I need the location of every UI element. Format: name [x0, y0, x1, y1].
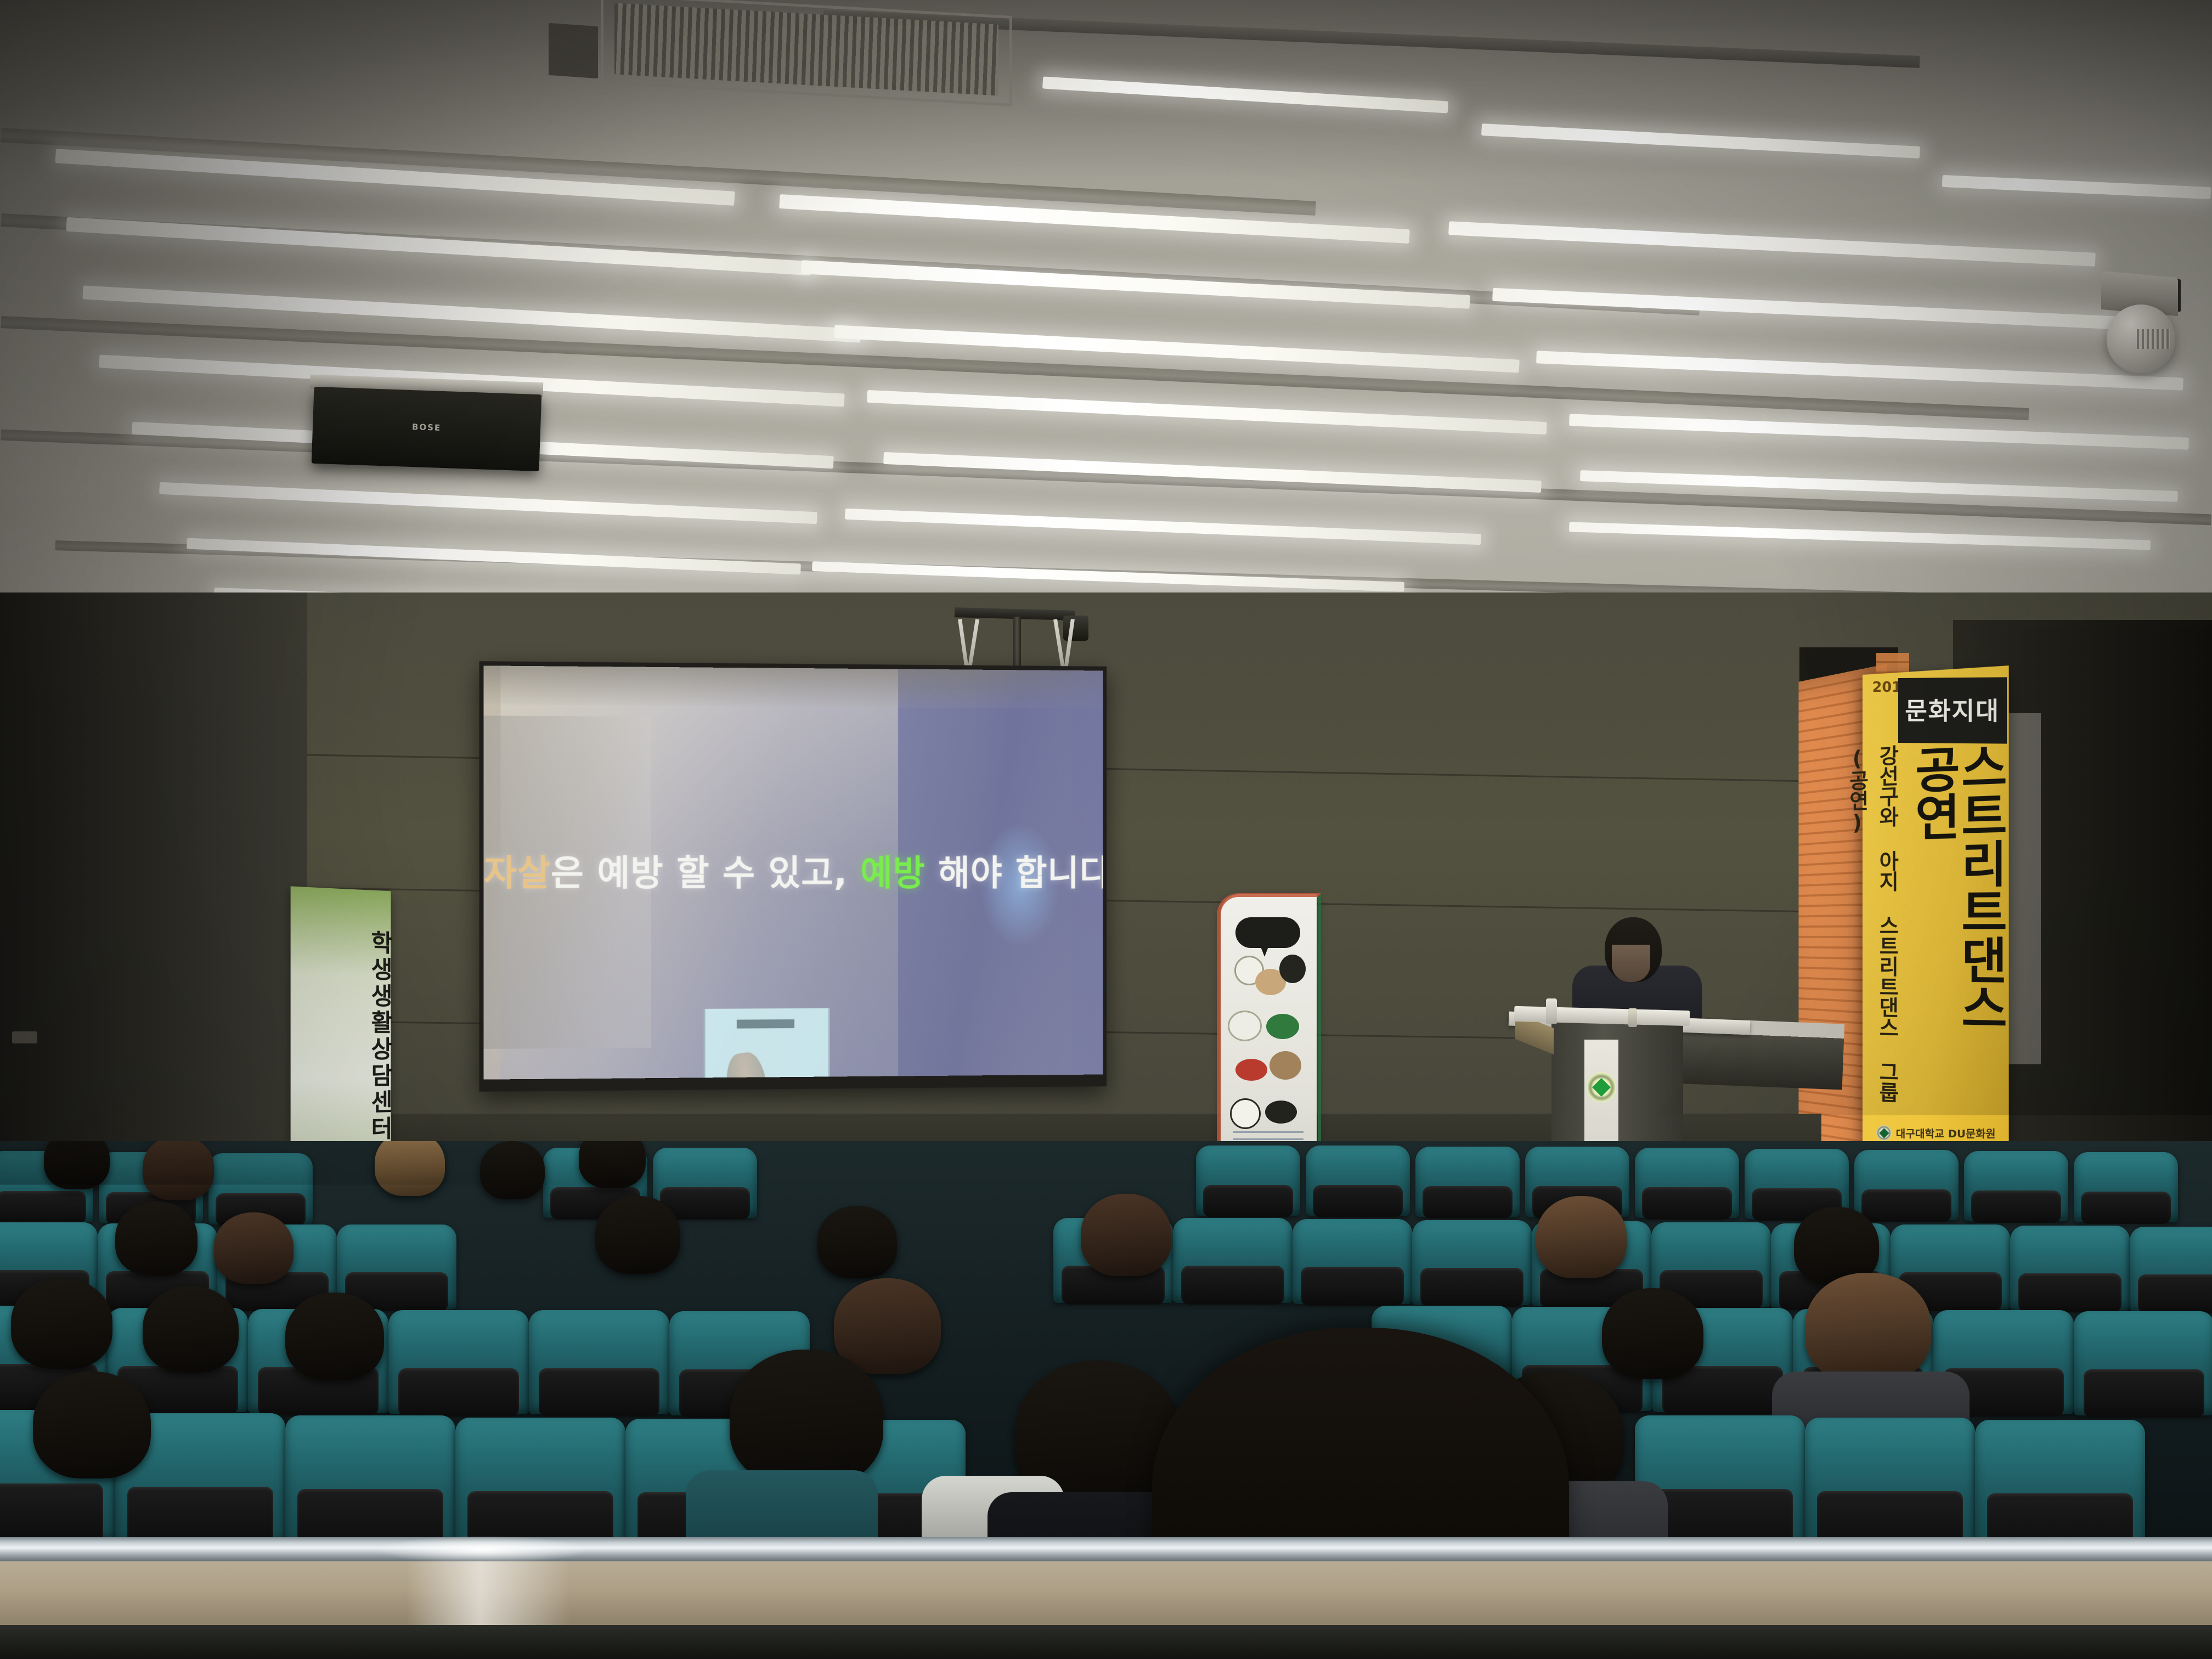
audience-head — [1602, 1288, 1703, 1379]
banner-header-box: 문화지대 — [1898, 677, 2007, 743]
audience-head — [143, 1141, 214, 1200]
audience-head — [143, 1286, 239, 1373]
seat[interactable] — [1293, 1219, 1412, 1304]
audience-head — [285, 1293, 384, 1380]
seat[interactable] — [1635, 1148, 1739, 1218]
projection-screen[interactable]: 자살은 예방 할 수 있고, 예방 해야 합니다. — [484, 665, 1103, 1079]
audience-head — [1081, 1194, 1171, 1276]
left-door-handle[interactable] — [12, 1031, 37, 1043]
seat[interactable] — [2074, 1311, 2212, 1415]
audience-head — [595, 1196, 680, 1274]
speech-bubble-green — [1266, 1014, 1299, 1039]
seat[interactable] — [1412, 1220, 1532, 1305]
slide-door — [704, 1008, 830, 1080]
seat[interactable] — [455, 1418, 625, 1549]
banner-footer-label: 대구대학교 DU문화원 — [1896, 1125, 1996, 1141]
audience-head — [817, 1206, 897, 1278]
banner-sub-label: 강선구와 아지 스트리트댄스 그룹(공연) — [1864, 744, 1903, 1127]
speech-bubble-red — [1235, 1059, 1267, 1081]
seat[interactable] — [2130, 1227, 2212, 1312]
handrail-highlight — [379, 1536, 587, 1564]
slide-text-part-orange: 자살 — [484, 853, 551, 894]
audience-head — [214, 1212, 294, 1284]
seat[interactable] — [2074, 1152, 2178, 1222]
seat[interactable] — [1975, 1420, 2145, 1551]
ceiling-access-panel — [549, 23, 598, 78]
foreground-rail-panel — [0, 1561, 2212, 1626]
banner-footer: 대구대학교 DU문화원 — [1876, 1123, 2005, 1142]
seat[interactable] — [1805, 1418, 1975, 1549]
microphone-icon — [1628, 1008, 1637, 1027]
university-logo-icon — [1876, 1125, 1892, 1141]
audience-head — [44, 1141, 110, 1189]
seat[interactable] — [1306, 1145, 1410, 1216]
rollup-title-bubble — [1235, 917, 1300, 948]
audience-head — [480, 1141, 545, 1199]
audience-head — [33, 1372, 151, 1479]
ceiling-camera-icon — [1063, 616, 1088, 641]
left-wall-dark — [0, 592, 307, 1207]
auditorium-photo: BOSE BOSE BOSE — [0, 0, 2212, 1659]
audience-head — [375, 1141, 445, 1196]
camera-vent-grille — [2137, 329, 2170, 349]
banner-left-label: 학생생활상담센터 — [291, 905, 391, 1167]
audience-head — [115, 1201, 198, 1276]
banner-main-label: 스트리트댄스 공연 — [1904, 741, 2004, 1124]
slide-text-part-1: 은 예방 할 수 있고, — [551, 853, 860, 894]
audience-head — [730, 1350, 883, 1487]
audience-head — [579, 1141, 646, 1188]
seat[interactable] — [529, 1310, 669, 1414]
water-bottle-icon — [1546, 998, 1557, 1024]
seat[interactable] — [1854, 1150, 1959, 1220]
slide-text-part-3: 해야 합니다. — [926, 853, 1103, 894]
speech-bubble-dark-3 — [1265, 1101, 1297, 1124]
seat[interactable] — [1415, 1147, 1520, 1217]
seat[interactable] — [2010, 1226, 2130, 1311]
rail-panel-highlight — [406, 1561, 571, 1626]
rollup-title-bubble-tail — [1261, 947, 1268, 957]
speech-bubble-face-white — [1230, 1098, 1261, 1129]
seat[interactable] — [1173, 1218, 1293, 1303]
seat[interactable] — [1964, 1151, 2068, 1221]
presenter-face — [1612, 945, 1650, 982]
speech-bubble-dark-2 — [1279, 955, 1306, 983]
speech-bubble-brown — [1269, 1051, 1301, 1080]
bose-logo: BOSE — [313, 419, 540, 436]
slide-headline: 자살은 예방 할 수 있고, 예방 해야 합니다. — [484, 844, 1103, 895]
bose-speaker-ceiling-left: BOSE — [312, 387, 542, 471]
slide-text-part-green: 예방 — [860, 853, 926, 894]
foreground-floor-shadow — [0, 1625, 2212, 1659]
university-emblem-icon — [1587, 1073, 1616, 1102]
audience-head — [1536, 1196, 1627, 1278]
seat[interactable] — [388, 1310, 529, 1414]
seat[interactable] — [285, 1415, 455, 1547]
speech-bubble-white-2 — [1228, 1011, 1262, 1041]
banner-header-label: 문화지대 — [1898, 691, 2007, 727]
slide-door-sign — [737, 1019, 794, 1029]
seat[interactable] — [1196, 1145, 1300, 1216]
foreground-handrail[interactable] — [0, 1537, 2212, 1562]
